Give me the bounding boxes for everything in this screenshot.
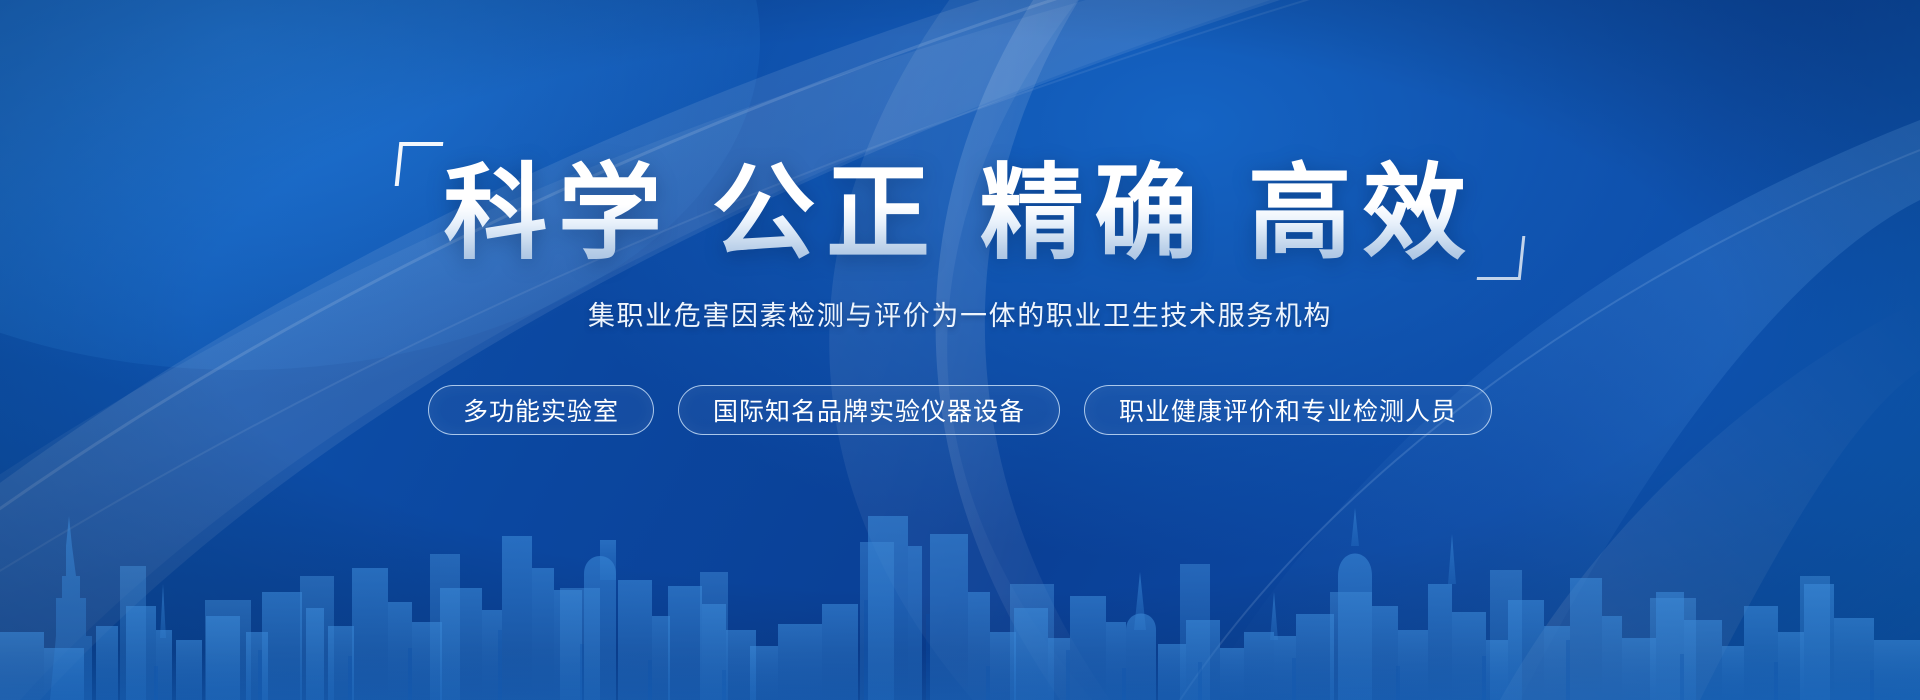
feature-pill-label: 国际知名品牌实验仪器设备: [713, 392, 1025, 428]
headline-block: 科学 公正 精确 高效: [397, 158, 1522, 270]
banner-content: 科学 公正 精确 高效 集职业危害因素检测与评价为一体的职业卫生技术服务机构 多…: [0, 0, 1920, 700]
banner-subtitle: 集职业危害因素检测与评价为一体的职业卫生技术服务机构: [588, 294, 1332, 333]
promo-banner: 科学 公正 精确 高效 集职业危害因素检测与评价为一体的职业卫生技术服务机构 多…: [0, 0, 1920, 700]
feature-pill-lab[interactable]: 多功能实验室: [428, 385, 654, 435]
page-title: 科学 公正 精确 高效: [443, 158, 1476, 270]
feature-pill-list: 多功能实验室 国际知名品牌实验仪器设备 职业健康评价和专业检测人员: [428, 385, 1492, 435]
feature-pill-label: 职业健康评价和专业检测人员: [1119, 392, 1457, 428]
corner-bracket-bottom-right-icon: [1476, 236, 1525, 280]
feature-pill-staff[interactable]: 职业健康评价和专业检测人员: [1084, 385, 1492, 435]
feature-pill-equipment[interactable]: 国际知名品牌实验仪器设备: [678, 385, 1060, 435]
corner-bracket-top-left-icon: [395, 142, 444, 186]
feature-pill-label: 多功能实验室: [463, 392, 619, 428]
